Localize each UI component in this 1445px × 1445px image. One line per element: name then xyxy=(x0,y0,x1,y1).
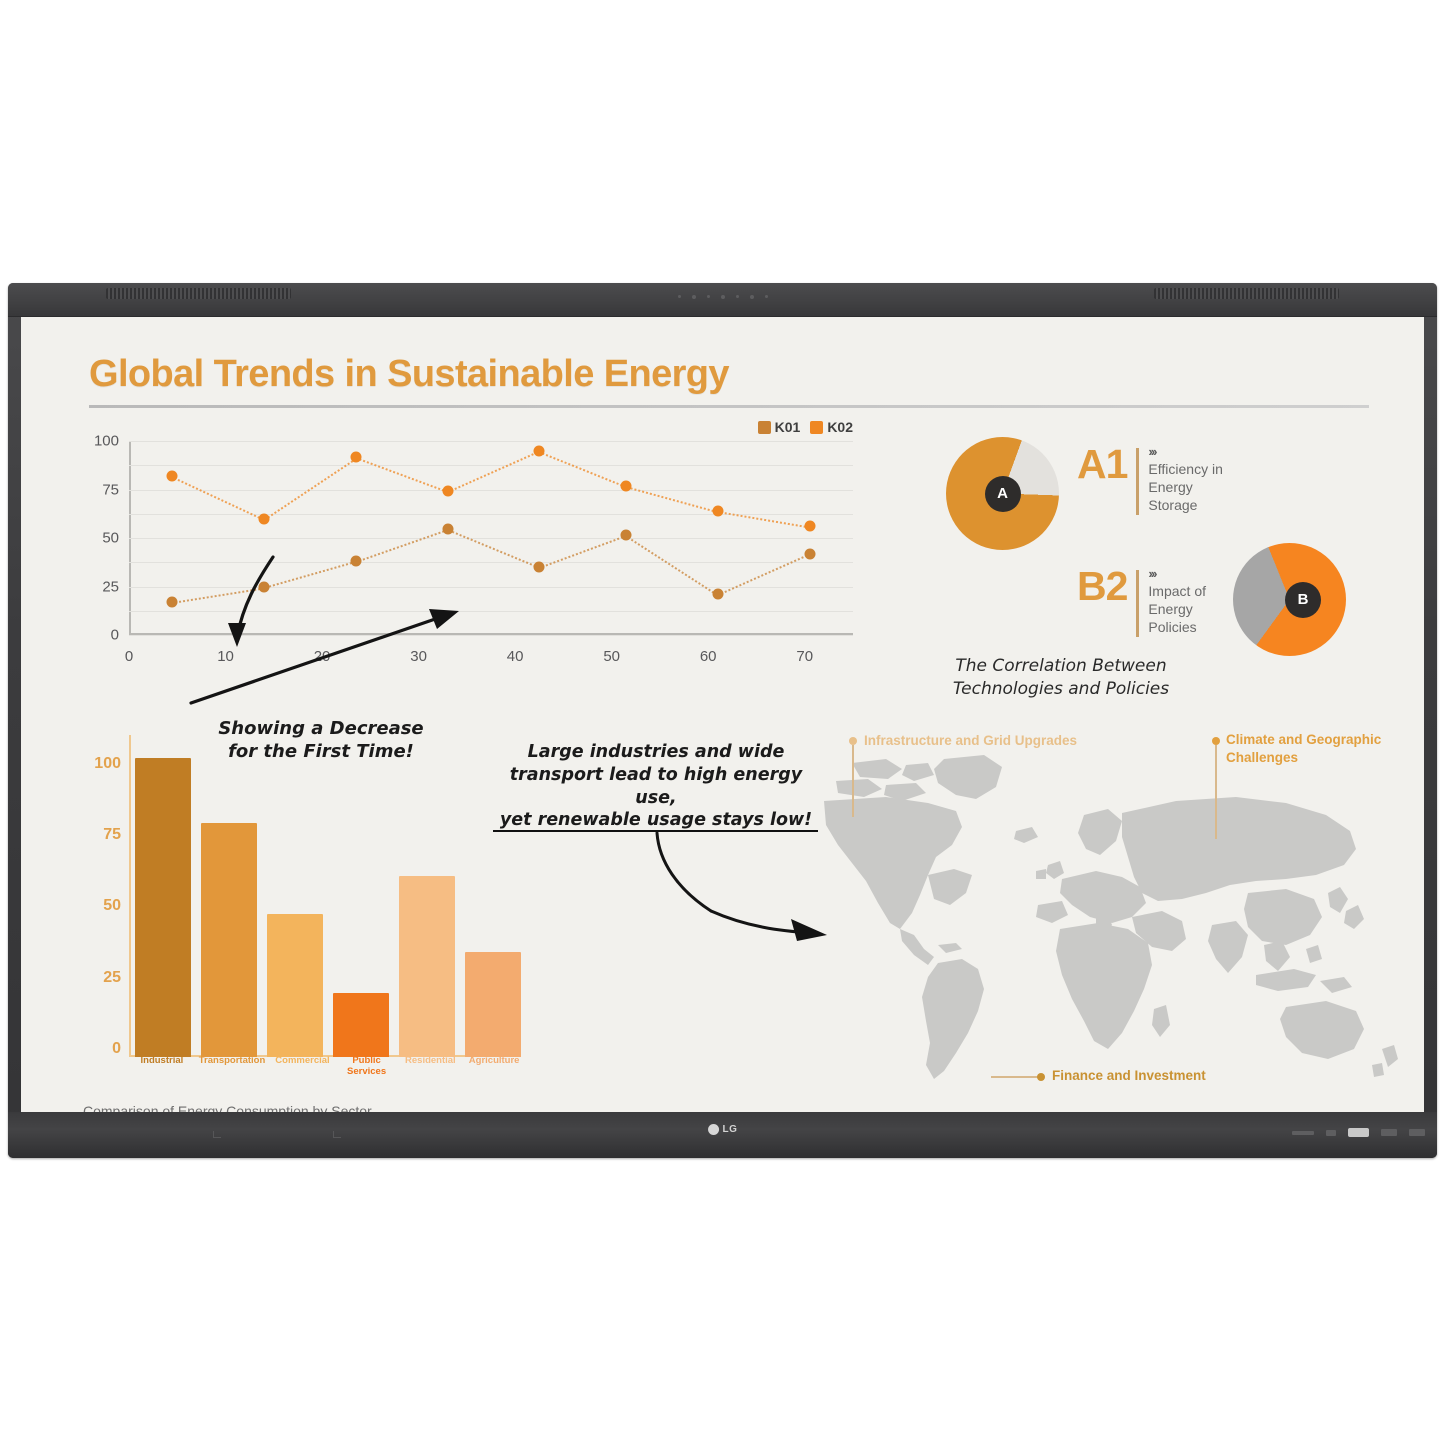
lg-display-device: Global Trends in Sustainable Energy K01K… xyxy=(8,283,1437,1158)
line-segment-k01 xyxy=(539,535,627,569)
display-screen[interactable]: Global Trends in Sustainable Energy K01K… xyxy=(21,317,1424,1112)
bar-residential[interactable] xyxy=(399,876,455,1057)
bar-y-tick-label: 75 xyxy=(103,826,121,844)
gridline xyxy=(129,611,853,612)
sensor-array xyxy=(678,295,768,299)
monitor-bottom-bezel: LG xyxy=(8,1112,1437,1158)
y-tick-label: 75 xyxy=(102,481,119,498)
data-point-k02[interactable] xyxy=(534,445,545,456)
bar-column xyxy=(333,735,389,1057)
legend-swatch xyxy=(758,421,771,434)
keypoint-a1: A1 ››› Efficiency inEnergyStorage xyxy=(1077,445,1223,515)
bar-y-axis-line xyxy=(129,735,131,1057)
data-point-k01[interactable] xyxy=(167,597,178,608)
world-map xyxy=(816,753,1416,1083)
bar-y-tick-label: 0 xyxy=(112,1040,121,1058)
keypoint-divider xyxy=(1136,448,1139,515)
data-point-k02[interactable] xyxy=(350,452,361,463)
keypoint-divider xyxy=(1136,570,1139,637)
data-point-k02[interactable] xyxy=(442,486,453,497)
pie-chart-a: A xyxy=(946,437,1059,550)
bar-label-commercial: Commercial xyxy=(275,1055,329,1077)
bar-label-public-services: Public Services xyxy=(340,1055,394,1077)
line-segment-k01 xyxy=(356,529,448,563)
bar-label-transportation: Transportation xyxy=(199,1055,266,1077)
line-chart: K01K02 0255075100 010203040506070 xyxy=(83,425,853,675)
y-tick-label: 0 xyxy=(111,627,119,644)
sensor-dot xyxy=(765,295,768,298)
speaker-grille-left xyxy=(106,288,291,299)
bar-y-tick-label: 100 xyxy=(94,755,121,773)
map-label-climate: Climate and GeographicChallenges xyxy=(1226,731,1421,766)
lg-logo-text: LG xyxy=(723,1124,738,1135)
gridline xyxy=(129,441,853,442)
gridline xyxy=(129,465,853,466)
keypoint-a1-description: Efficiency inEnergyStorage xyxy=(1148,461,1222,515)
x-tick-label: 30 xyxy=(410,648,427,665)
bar-industrial[interactable] xyxy=(135,758,191,1057)
line-chart-y-axis: 0255075100 xyxy=(83,441,127,635)
bar-chart-y-axis: 0255075100 xyxy=(83,735,127,1049)
keypoint-a1-code: A1 xyxy=(1077,445,1127,484)
annotation-industries: Large industries and widetransport lead … xyxy=(491,741,821,832)
bar-public-services[interactable] xyxy=(333,993,389,1057)
leader-line-climate xyxy=(1215,745,1217,839)
data-point-k01[interactable] xyxy=(804,548,815,559)
bar-transportation[interactable] xyxy=(201,823,257,1057)
line-segment-k01 xyxy=(264,561,356,589)
data-point-k01[interactable] xyxy=(534,562,545,573)
usb-c-port-icon xyxy=(1326,1130,1336,1136)
data-point-k01[interactable] xyxy=(259,582,270,593)
control-marks xyxy=(213,1131,413,1139)
gridline xyxy=(129,538,853,539)
pie-a-badge: A xyxy=(985,476,1021,512)
lg-logo: LG xyxy=(708,1124,738,1135)
chevron-right-icon: ››› xyxy=(1148,445,1222,458)
data-point-k02[interactable] xyxy=(259,513,270,524)
data-point-k01[interactable] xyxy=(350,556,361,567)
power-port-icon xyxy=(1292,1131,1314,1135)
port-panel xyxy=(1292,1128,1425,1137)
monitor-top-bezel xyxy=(8,283,1437,317)
pie-b-badge: B xyxy=(1285,582,1321,618)
data-point-k02[interactable] xyxy=(804,521,815,532)
annotation-underline xyxy=(493,830,818,832)
title-divider xyxy=(89,405,1369,408)
keypoint-b2-code: B2 xyxy=(1077,567,1127,606)
world-map-section: Infrastructure and Grid Upgrades Climate… xyxy=(816,725,1416,1105)
bar-y-tick-label: 25 xyxy=(103,969,121,987)
sensor-dot xyxy=(750,295,754,299)
data-point-k02[interactable] xyxy=(712,505,723,516)
legend-item-k01: K01 xyxy=(758,419,801,435)
bar-label-agriculture: Agriculture xyxy=(467,1055,521,1077)
bar-y-tick-label: 50 xyxy=(103,897,121,915)
line-segment-k01 xyxy=(172,587,264,604)
leader-line-infrastructure xyxy=(852,745,854,817)
x-tick-label: 60 xyxy=(700,648,717,665)
sensor-dot xyxy=(736,295,739,298)
bar-column xyxy=(267,735,323,1057)
map-dot-climate xyxy=(1212,737,1220,745)
line-segment-k02 xyxy=(539,451,627,488)
line-chart-legend: K01K02 xyxy=(758,419,853,435)
legend-item-k02: K02 xyxy=(810,419,853,435)
line-chart-plot-area: 010203040506070 xyxy=(129,441,853,635)
control-mark xyxy=(213,1131,221,1138)
legend-swatch xyxy=(810,421,823,434)
pie-chart-b: B xyxy=(1233,543,1346,656)
data-point-k01[interactable] xyxy=(442,524,453,535)
sensor-dot xyxy=(678,295,681,298)
map-dot-finance xyxy=(1037,1073,1045,1081)
legend-label: K02 xyxy=(827,419,853,435)
presentation-slide: Global Trends in Sustainable Energy K01K… xyxy=(21,317,1424,1112)
speaker-grille-right xyxy=(1154,288,1339,299)
bar-chart: 0255075100 IndustrialTransportationComme… xyxy=(83,735,533,1112)
bar-chart-plot-area xyxy=(135,735,521,1057)
y-tick-label: 25 xyxy=(102,578,119,595)
map-label-finance: Finance and Investment xyxy=(1052,1068,1206,1083)
bar-column xyxy=(201,735,257,1057)
y-tick-label: 50 xyxy=(102,530,119,547)
y-tick-label: 100 xyxy=(94,433,119,450)
bar-column xyxy=(399,735,455,1057)
sensor-dot xyxy=(707,295,710,298)
x-tick-label: 0 xyxy=(125,648,133,665)
x-tick-label: 10 xyxy=(217,648,234,665)
screenshot-root: Global Trends in Sustainable Energy K01K… xyxy=(0,0,1445,1445)
page-title: Global Trends in Sustainable Energy xyxy=(89,353,729,396)
line-segment-k02 xyxy=(448,451,541,494)
line-segment-k01 xyxy=(718,554,811,597)
data-point-k01[interactable] xyxy=(621,530,632,541)
data-point-k02[interactable] xyxy=(167,470,178,481)
legend-label: K01 xyxy=(775,419,801,435)
x-tick-label: 40 xyxy=(507,648,524,665)
script-note-correlation: The Correlation BetweenTechnologies and … xyxy=(911,655,1211,701)
data-point-k01[interactable] xyxy=(712,589,723,600)
sensor-dot xyxy=(721,295,725,299)
bar-chart-caption: Comparison of Energy Consumption by Sect… xyxy=(83,1103,372,1106)
gridline xyxy=(129,587,853,588)
lg-logo-mark xyxy=(708,1124,719,1135)
x-tick-label: 20 xyxy=(314,648,331,665)
hdmi-port-icon xyxy=(1348,1128,1369,1137)
bar-commercial[interactable] xyxy=(267,914,323,1057)
usb-a-port-icon xyxy=(1381,1129,1397,1136)
bar-chart-category-labels: IndustrialTransportationCommercialPublic… xyxy=(135,1055,521,1077)
gridline xyxy=(129,635,853,636)
bar-column xyxy=(135,735,191,1057)
usb-a-port-icon xyxy=(1409,1129,1425,1136)
keypoint-b2-description: Impact ofEnergyPolicies xyxy=(1148,583,1206,637)
gridline xyxy=(129,562,853,563)
x-tick-label: 70 xyxy=(796,648,813,665)
bar-label-residential: Residential xyxy=(403,1055,457,1077)
gridline xyxy=(129,490,853,491)
bar-label-industrial: Industrial xyxy=(135,1055,189,1077)
chevron-right-icon: ››› xyxy=(1148,567,1206,580)
data-point-k02[interactable] xyxy=(621,480,632,491)
bar-agriculture[interactable] xyxy=(465,952,521,1057)
control-mark xyxy=(333,1131,341,1138)
map-dot-infrastructure xyxy=(849,737,857,745)
sensor-dot xyxy=(692,295,696,299)
line-segment-k02 xyxy=(355,457,447,493)
keypoint-b2: B2 ››› Impact ofEnergyPolicies xyxy=(1077,567,1206,637)
x-tick-label: 50 xyxy=(603,648,620,665)
leader-line-finance xyxy=(991,1076,1039,1078)
map-label-infrastructure: Infrastructure and Grid Upgrades xyxy=(864,733,1077,748)
